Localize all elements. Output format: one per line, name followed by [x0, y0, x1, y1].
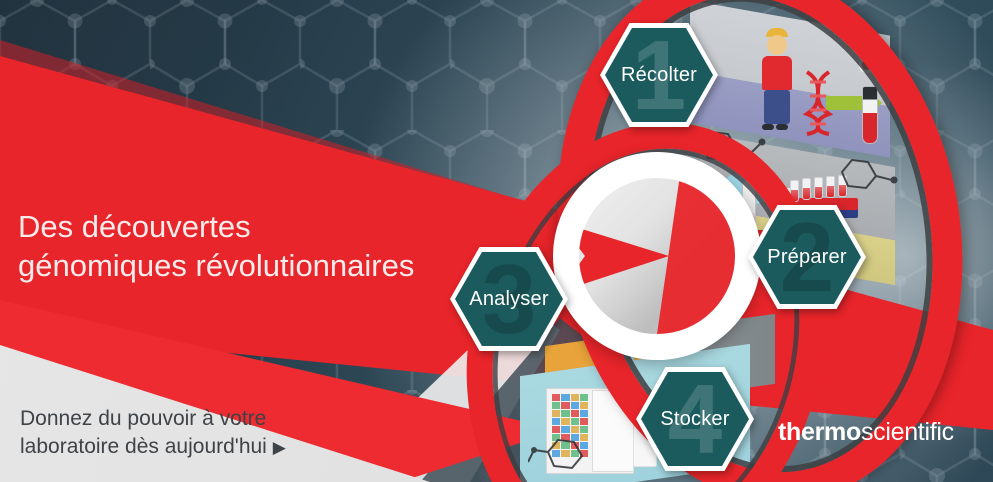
step-badge-preparer[interactable]: 2 Préparer	[748, 205, 866, 309]
cta-line-2-wrap: laboratoire dès aujourd'hui ▶	[20, 433, 400, 461]
cta-text[interactable]: Donnez du pouvoir à votre laboratoire dè…	[20, 405, 400, 462]
center-ring-play-graphic	[553, 152, 761, 360]
logo-thermo: thermo	[778, 418, 861, 446]
thermo-scientific-banner: 1 Récolter 2 Préparer 3 Analyser 4 Stock…	[0, 0, 993, 482]
step-label-stocker: Stocker	[660, 408, 729, 431]
logo-scientific: scientific	[861, 418, 954, 446]
headline: Des découvertes génomiques révolutionnai…	[18, 207, 488, 286]
thermo-scientific-logo: thermoscientific	[778, 418, 954, 447]
cta-line-1: Donnez du pouvoir à votre	[20, 405, 400, 433]
headline-line-2: génomiques révolutionnaires	[18, 246, 488, 285]
headline-line-1: Des découvertes	[18, 207, 488, 246]
play-arrow-icon: ▶	[273, 438, 286, 457]
step-badge-stocker[interactable]: 4 Stocker	[636, 367, 754, 471]
step-label-preparer: Préparer	[767, 246, 846, 269]
ring-red-fill	[655, 168, 745, 348]
step-badge-recolter[interactable]: 1 Récolter	[600, 23, 718, 127]
step-label-recolter: Récolter	[621, 64, 697, 87]
step-label-analyser: Analyser	[469, 288, 548, 311]
cta-line-2: laboratoire dès aujourd'hui	[20, 435, 267, 458]
